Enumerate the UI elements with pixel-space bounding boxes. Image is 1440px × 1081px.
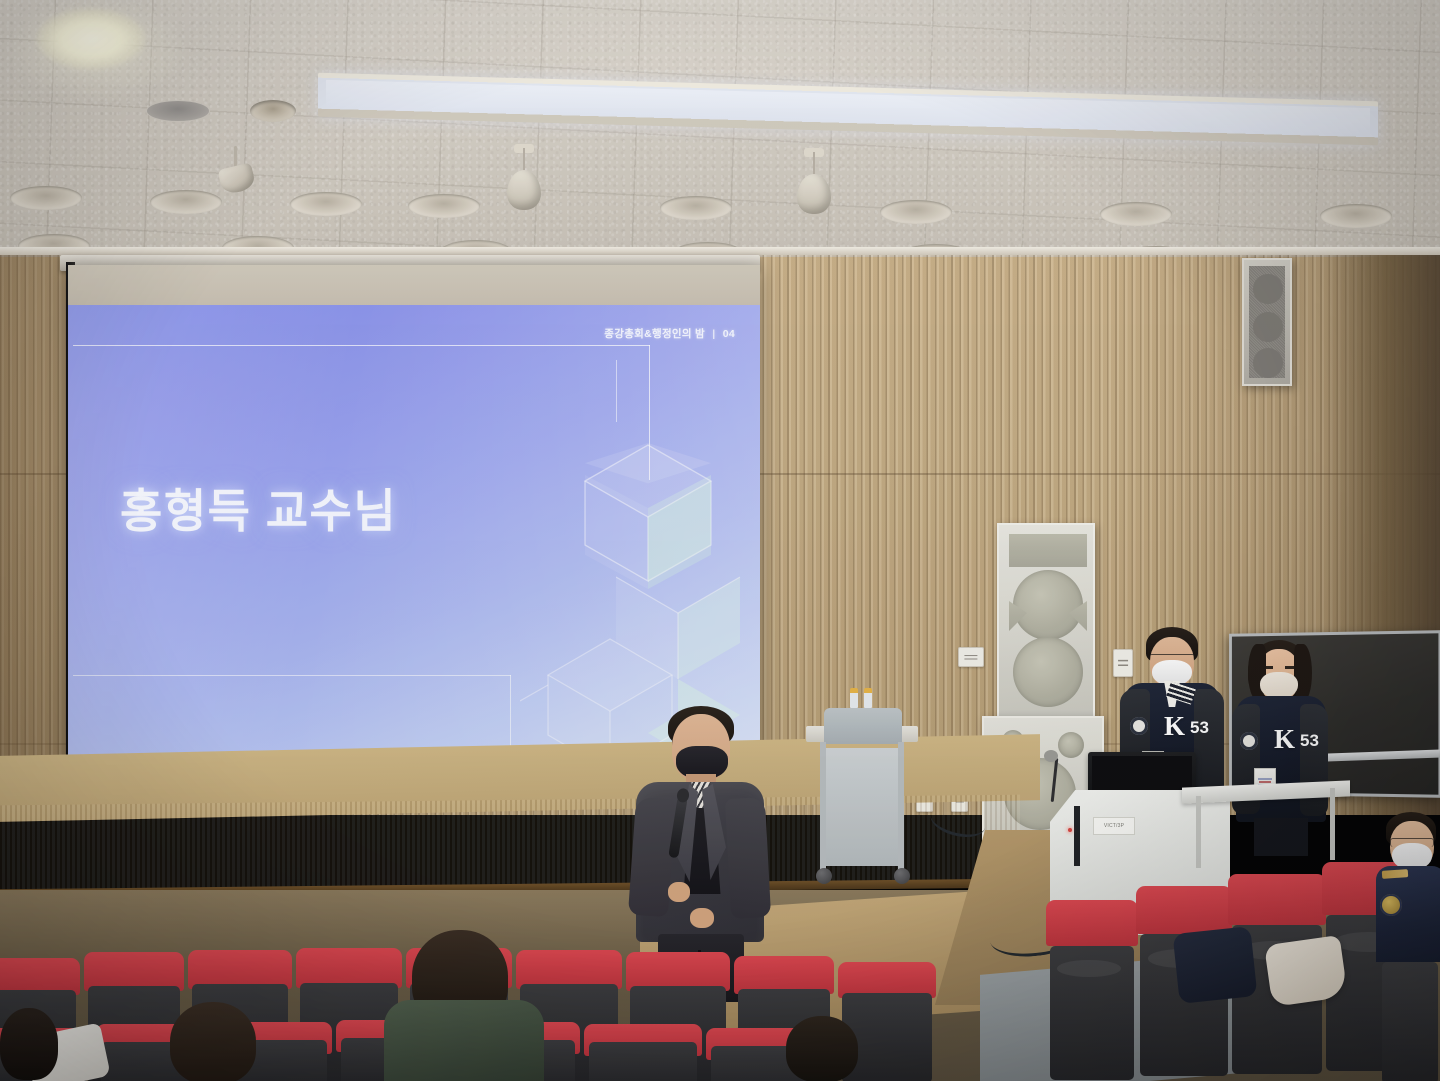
student-staff-right: K 53 xyxy=(1232,640,1328,852)
screen-top-margin xyxy=(68,265,760,305)
podium-label: VICT/3P xyxy=(1093,817,1135,835)
hand-right xyxy=(690,908,714,928)
slide-decor-line xyxy=(616,360,617,422)
ceiling-speaker-icon xyxy=(146,100,210,122)
ceiling-downlight-icon xyxy=(1100,202,1172,226)
wall-speaker-icon xyxy=(1242,258,1292,386)
trousers xyxy=(1254,818,1308,856)
water-bottle-icon xyxy=(850,688,858,708)
jacket-number: 53 xyxy=(1190,719,1209,736)
water-bottle-icon xyxy=(864,688,872,708)
microphone-icon xyxy=(1044,750,1058,762)
ceiling-spot-lamp-icon xyxy=(218,146,258,190)
seated-attendee-uniform xyxy=(1376,812,1440,962)
pa-speaker-top xyxy=(997,523,1095,718)
audience-seat[interactable] xyxy=(584,1024,702,1081)
desk-leg xyxy=(1330,788,1335,860)
wall-switch-plate-icon xyxy=(958,647,984,667)
lectern-caster-icon xyxy=(816,868,832,884)
ceiling xyxy=(0,0,1440,272)
lectern-caster-icon xyxy=(894,868,910,884)
hair-strand-right xyxy=(1294,644,1312,702)
jacket-patch-icon xyxy=(1240,732,1258,750)
slide-page-number: 04 xyxy=(723,328,735,340)
ceiling-downlight-icon xyxy=(1320,204,1392,228)
slide-header: 종강총회&행정인의 밤 | 04 xyxy=(604,326,735,341)
jacket-patch-icon xyxy=(1130,717,1148,735)
ceiling-downlight-icon xyxy=(250,100,296,122)
audience-head xyxy=(0,1008,58,1080)
ceiling-pendant-lamp-icon xyxy=(516,148,532,206)
lectern xyxy=(806,700,918,900)
eyes xyxy=(1264,666,1294,669)
ceiling-downlight-icon xyxy=(880,200,952,224)
slide-title: 홍형득 교수님 xyxy=(120,487,397,535)
podium-side-rail xyxy=(1074,806,1080,866)
ceiling-pendant-lamp-icon xyxy=(806,152,822,210)
jacket-letter: K xyxy=(1164,713,1185,740)
slide-header-separator: | xyxy=(712,328,715,340)
jacket-number: 53 xyxy=(1300,732,1319,749)
slide-rule-top-vertical xyxy=(649,345,650,480)
hand-holding-microphone xyxy=(668,882,690,902)
audience-jacket xyxy=(384,1000,544,1081)
audience-head xyxy=(786,1016,858,1081)
power-indicator-led xyxy=(1068,828,1072,832)
audience-head xyxy=(170,1002,256,1081)
ceiling-downlight-icon xyxy=(10,186,82,210)
jacket-sleeve-right xyxy=(1300,704,1328,816)
jacket-letter: K xyxy=(1274,726,1295,753)
slide-header-text: 종강총회&행정인의 밤 xyxy=(604,328,705,340)
desk-leg xyxy=(1196,796,1201,868)
auditorium-photo: 종강총회&행정인의 밤 | 04 홍형득 교수님 xyxy=(0,0,1440,1081)
seated-attendee-legs xyxy=(1173,926,1258,1004)
slide-rule-top xyxy=(73,345,650,346)
uniform-badge-icon xyxy=(1380,894,1402,916)
arm-right xyxy=(725,797,771,919)
audience-seat[interactable] xyxy=(1046,900,1138,1076)
ceiling-lamp-glow-icon xyxy=(36,8,146,70)
arm-left xyxy=(628,797,676,918)
presentation-slide: 종강총회&행정인의 밤 | 04 홍형득 교수님 xyxy=(68,305,760,770)
jacket-sleeve-right xyxy=(1194,689,1224,801)
face-mask-icon xyxy=(1260,672,1298,699)
slide-rule-bottom xyxy=(73,675,511,676)
ceiling-downlight-icon xyxy=(660,196,732,220)
ceiling-downlight-icon xyxy=(290,192,362,216)
ceiling-downlight-icon xyxy=(408,194,480,218)
projector-screen: 종강총회&행정인의 밤 | 04 홍형득 교수님 xyxy=(68,265,760,770)
ceiling-downlight-icon xyxy=(150,190,222,214)
